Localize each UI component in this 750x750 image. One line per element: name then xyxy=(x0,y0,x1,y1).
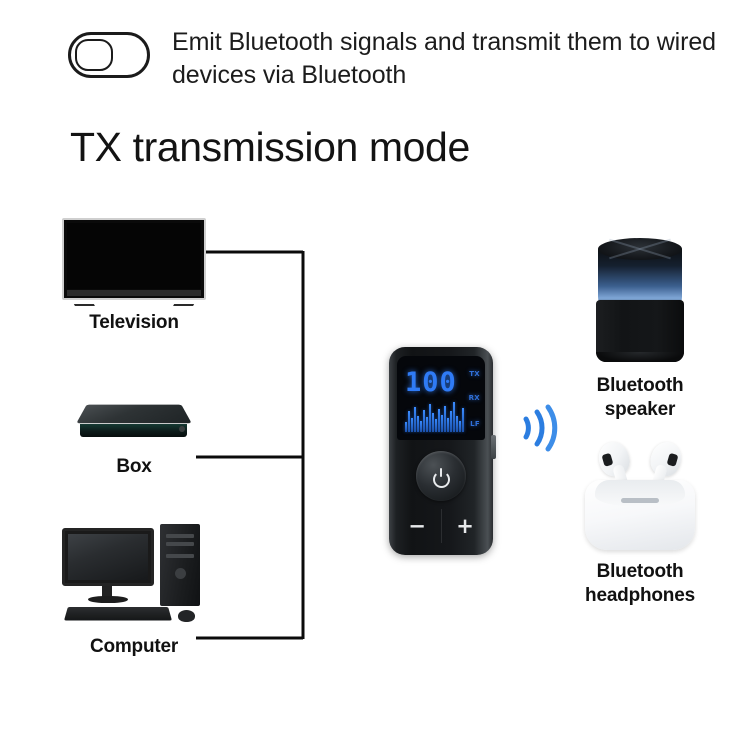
power-button[interactable] xyxy=(416,451,466,501)
equalizer-bar xyxy=(453,402,455,432)
monitor-screen xyxy=(68,534,148,580)
speaker-mesh-body xyxy=(596,300,684,362)
target-bluetooth-headphones: Bluetooth headphones xyxy=(545,440,735,608)
equalizer-bar xyxy=(405,422,407,433)
source-label-television: Television xyxy=(44,312,224,334)
source-label-computer: Computer xyxy=(44,636,224,658)
keyboard-icon xyxy=(64,607,172,620)
monitor-base xyxy=(88,596,128,603)
equalizer-bar xyxy=(447,418,449,432)
bluetooth-toggle-icon xyxy=(68,32,150,78)
equalizer-bar xyxy=(456,416,458,432)
header-description: Emit Bluetooth signals and transmit them… xyxy=(172,26,728,93)
source-box: Box xyxy=(44,392,224,478)
earbuds-charging-case xyxy=(585,480,695,550)
equalizer-bar xyxy=(408,411,410,432)
equalizer-bar xyxy=(423,410,425,432)
source-label-box: Box xyxy=(44,456,224,478)
mouse-icon xyxy=(178,610,195,622)
source-computer: Computer xyxy=(44,520,224,658)
earbud-left xyxy=(595,439,633,480)
volume-down-button[interactable]: − xyxy=(404,513,430,539)
box-front-face xyxy=(80,424,187,437)
target-bluetooth-speaker: Bluetooth speaker xyxy=(545,238,735,422)
header: Emit Bluetooth signals and transmit them… xyxy=(68,26,728,93)
equalizer-bar xyxy=(450,411,452,432)
equalizer-bar xyxy=(420,421,422,432)
equalizer-bar xyxy=(438,409,440,432)
tower-bay-1 xyxy=(166,534,194,538)
monitor-icon xyxy=(62,528,154,586)
equalizer-bar xyxy=(426,417,428,432)
source-television: Television xyxy=(44,218,224,334)
lcd-tag-rx: RX xyxy=(469,394,480,402)
tower-power-knob xyxy=(175,568,186,579)
box-indicator-dot xyxy=(179,426,185,432)
target-label-headphones-line2: headphones xyxy=(545,584,735,608)
button-divider xyxy=(441,509,442,543)
set-top-box-icon xyxy=(74,392,194,450)
earbud-left-tip xyxy=(601,453,613,467)
target-label-speaker-line1: Bluetooth xyxy=(545,374,735,398)
target-label-speaker-line2: speaker xyxy=(545,398,735,422)
lcd-tag-tx: TX xyxy=(469,370,480,378)
equalizer-bar xyxy=(435,419,437,432)
tv-screen xyxy=(67,223,201,289)
equalizer-bar xyxy=(429,404,431,432)
infographic-page: Emit Bluetooth signals and transmit them… xyxy=(0,0,750,750)
equalizer-bar xyxy=(411,418,413,432)
earbud-right-tip xyxy=(667,453,679,467)
bluetooth-transmitter-device[interactable]: 100 TX RX LF − + xyxy=(389,347,493,555)
page-title: TX transmission mode xyxy=(70,124,470,171)
computer-tower-icon xyxy=(160,524,200,606)
box-top-face xyxy=(76,405,191,424)
lcd-tag-lf: LF xyxy=(470,420,480,428)
volume-up-button[interactable]: + xyxy=(452,513,478,539)
equalizer-bar xyxy=(417,416,419,432)
tower-bay-3 xyxy=(166,554,194,558)
power-icon xyxy=(433,468,450,485)
lcd-equalizer xyxy=(405,402,457,432)
television-icon xyxy=(62,218,206,306)
target-label-headphones: Bluetooth headphones xyxy=(545,560,735,608)
desktop-computer-icon xyxy=(60,520,208,630)
target-label-headphones-line1: Bluetooth xyxy=(545,560,735,584)
smart-speaker-icon xyxy=(592,238,688,366)
lcd-volume-value: 100 xyxy=(405,369,457,396)
equalizer-bar xyxy=(462,408,464,432)
equalizer-bar xyxy=(432,413,434,432)
speaker-top-surface xyxy=(598,238,682,260)
equalizer-bar xyxy=(444,406,446,432)
target-label-speaker: Bluetooth speaker xyxy=(545,374,735,422)
tv-frame xyxy=(62,218,206,300)
toggle-knob xyxy=(75,39,113,71)
wireless-earbuds-icon xyxy=(577,440,703,552)
earbud-right xyxy=(647,439,685,480)
device-lcd-screen: 100 TX RX LF xyxy=(397,356,485,440)
tower-bay-2 xyxy=(166,542,194,546)
equalizer-bar xyxy=(441,415,443,432)
device-body: 100 TX RX LF − + xyxy=(389,347,493,555)
earbuds-case-slot xyxy=(621,498,659,503)
device-side-switch[interactable] xyxy=(491,435,496,459)
tv-leg-right xyxy=(173,295,199,306)
equalizer-bar xyxy=(414,407,416,433)
equalizer-bar xyxy=(459,421,461,432)
